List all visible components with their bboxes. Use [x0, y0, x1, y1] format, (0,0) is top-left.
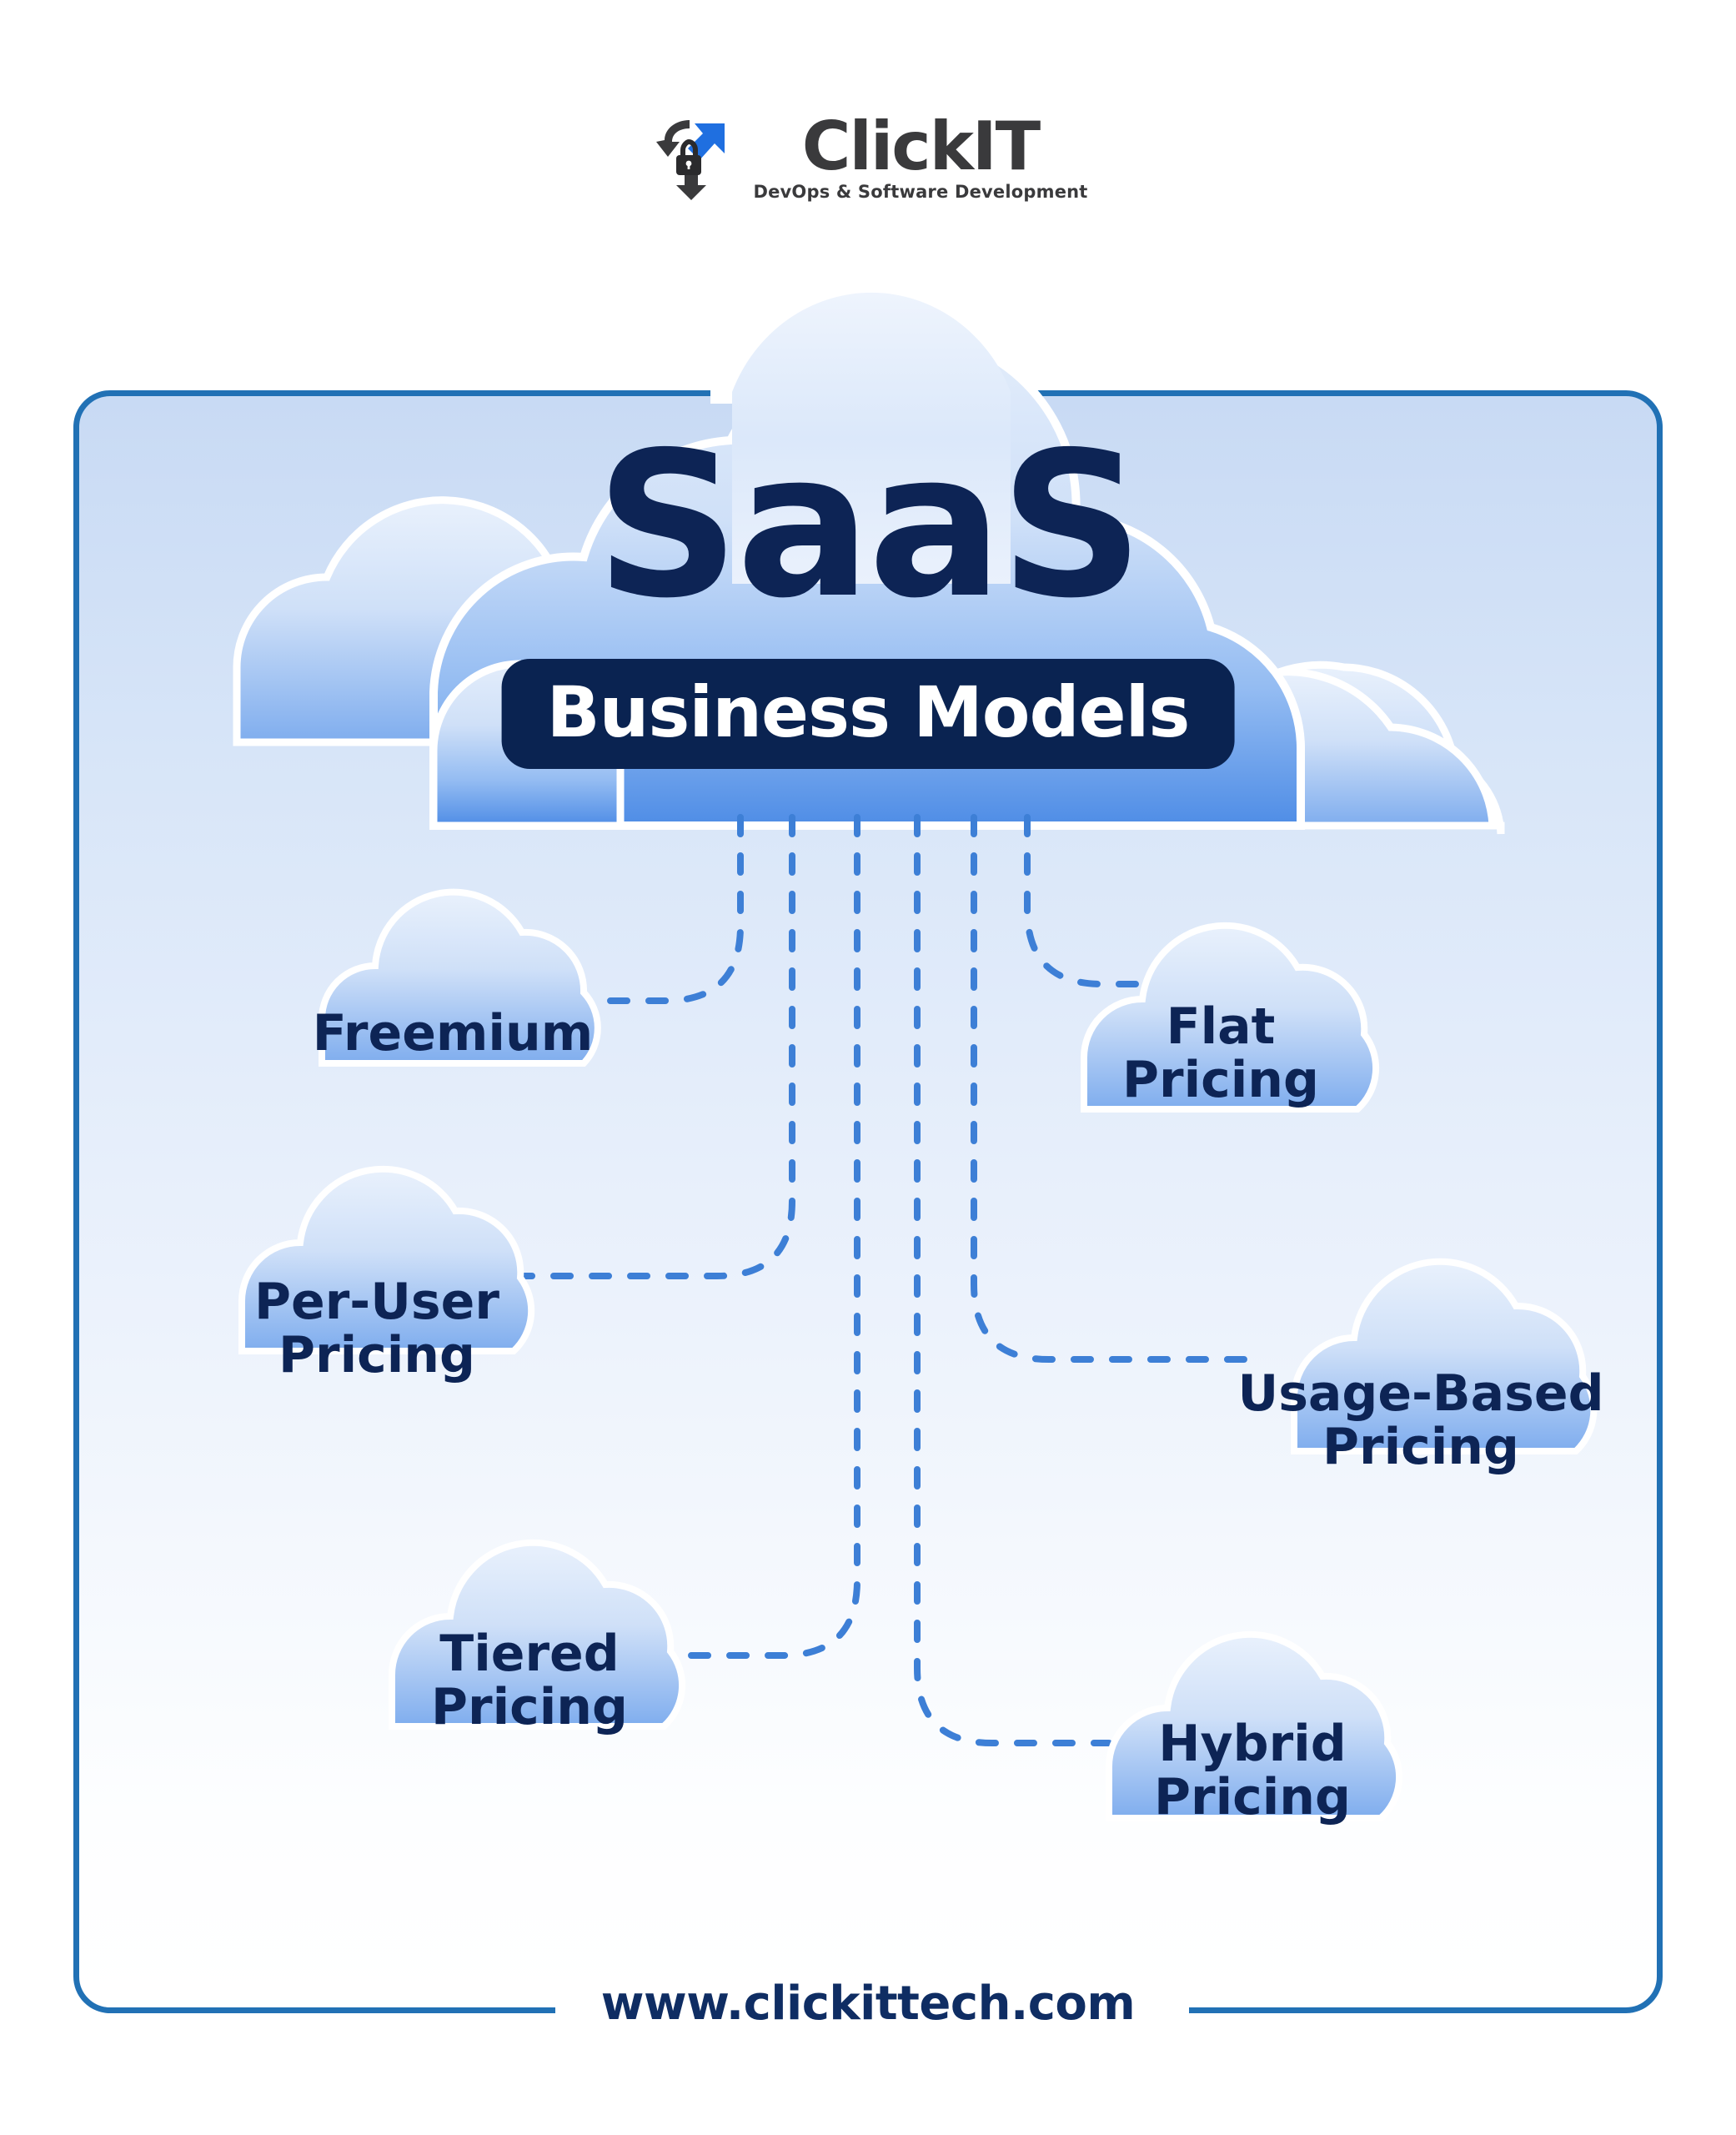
node-label-hybrid[interactable]: Hybrid Pricing [1094, 1718, 1411, 1824]
brand-logo: ClickIT DevOps & Software Development [0, 100, 1736, 217]
infographic-canvas: ClickIT DevOps & Software Development [0, 0, 1736, 2135]
node-label-per-user[interactable]: Per-User Pricing [193, 1276, 560, 1382]
node-label-flat[interactable]: Flat Pricing [1071, 1001, 1371, 1107]
logo-wordmark: ClickIT [802, 115, 1040, 178]
footer-website-url[interactable]: www.clickittech.com [0, 1977, 1736, 2031]
top-border-notch [710, 385, 1027, 404]
hero-subtitle-pill: Business Models [502, 659, 1235, 769]
node-label-freemium[interactable]: Freemium [305, 1007, 600, 1061]
hero-subtitle: Business Models [547, 677, 1190, 747]
hero-title: SaaS [0, 425, 1736, 625]
node-label-usage-based[interactable]: Usage-Based Pricing [1187, 1368, 1654, 1474]
logo-tagline: DevOps & Software Development [753, 182, 1087, 202]
shield-lock-arrows-icon [648, 112, 735, 205]
node-label-tiered[interactable]: Tiered Pricing [374, 1628, 685, 1734]
